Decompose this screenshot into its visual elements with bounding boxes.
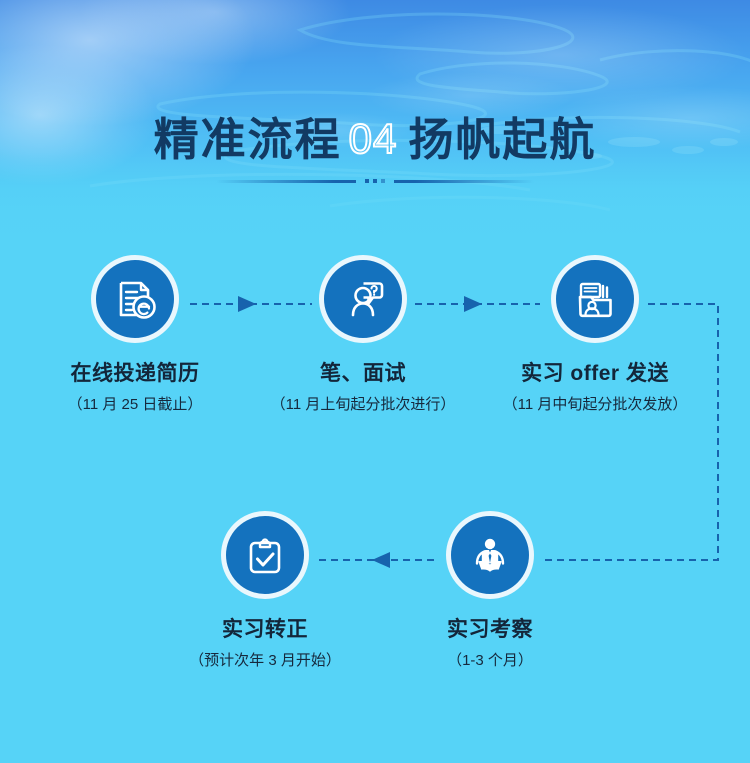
flow-step-1-title: 在线投递简历: [20, 361, 250, 387]
flow-step-5[interactable]: 实习考察 （1-3 个月）: [375, 511, 605, 671]
heading-segment-2: 扬帆起航: [408, 113, 596, 166]
flow-step-2-subtitle: （11 月上旬起分批次进行）: [248, 395, 478, 415]
flow-step-5-subtitle: （1-3 个月）: [375, 651, 605, 671]
heading-segment-1: 精准流程: [154, 113, 342, 166]
divider-bar-right: [394, 180, 534, 183]
infographic-canvas: 精准流程04扬帆起航: [0, 0, 750, 763]
flow-step-5-title: 实习考察: [375, 617, 605, 643]
businessperson-book-icon: [467, 532, 513, 578]
flow-step-3-icon-circle[interactable]: [551, 255, 639, 343]
clipboard-check-icon: [242, 532, 288, 578]
section-heading: 精准流程04扬帆起航: [0, 112, 750, 169]
divider-bar-left: [216, 180, 356, 183]
flow-step-1-icon-circle[interactable]: [91, 255, 179, 343]
flow-step-2[interactable]: 笔、面试 （11 月上旬起分批次进行）: [248, 255, 478, 415]
flow-step-1-subtitle: （11 月 25 日截止）: [20, 395, 250, 415]
flow-step-5-icon-circle[interactable]: [446, 511, 534, 599]
flow-step-3-subtitle: （11 月中旬起分批次发放）: [480, 395, 710, 415]
document-e-icon: [112, 276, 158, 322]
flow-step-2-title: 笔、面试: [248, 361, 478, 387]
flow-step-3[interactable]: 实习 offer 发送 （11 月中旬起分批次发放）: [480, 255, 710, 415]
flow-step-4-icon-circle[interactable]: [221, 511, 309, 599]
divider-dots: [365, 179, 385, 183]
flow-step-4-subtitle: （预计次年 3 月开始）: [150, 651, 380, 671]
flow-step-3-title: 实习 offer 发送: [480, 361, 710, 387]
flow-step-2-icon-circle[interactable]: [319, 255, 407, 343]
heading-text: 精准流程04扬帆起航: [154, 112, 597, 169]
personnel-folder-icon: [572, 276, 618, 322]
interview-person-speech-icon: [340, 276, 386, 322]
heading-number: 04: [342, 115, 405, 162]
heading-divider: [0, 176, 750, 186]
flow-step-4-title: 实习转正: [150, 617, 380, 643]
flow-step-4[interactable]: 实习转正 （预计次年 3 月开始）: [150, 511, 380, 671]
flow-step-1[interactable]: 在线投递简历 （11 月 25 日截止）: [20, 255, 250, 415]
